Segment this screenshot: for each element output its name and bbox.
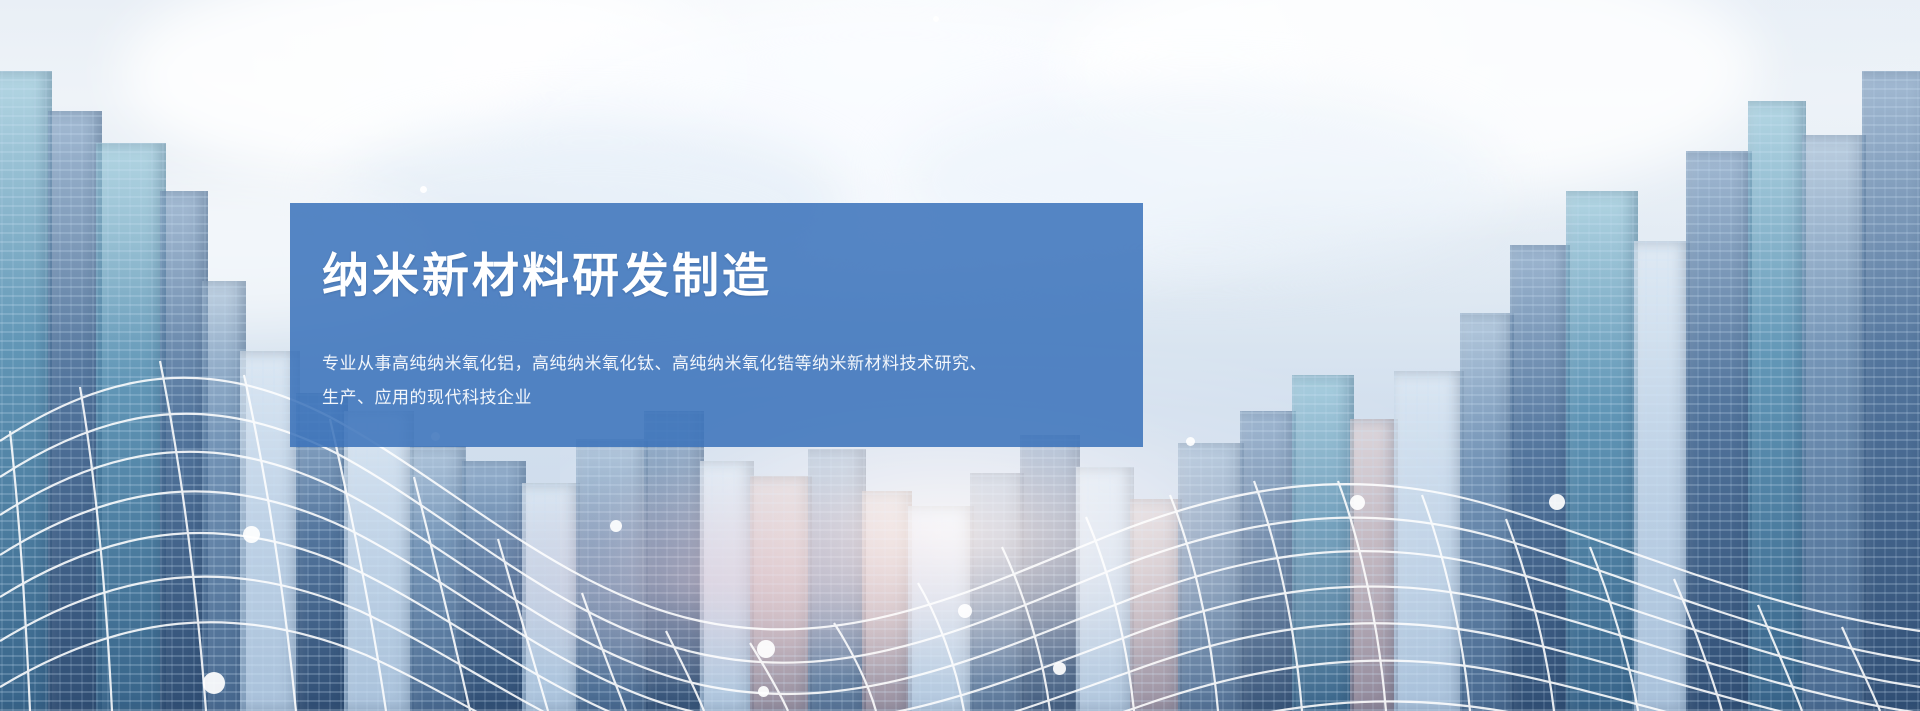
- page-title: 纳米新材料研发制造: [322, 251, 1143, 303]
- building: [1510, 245, 1570, 711]
- building: [1566, 191, 1638, 711]
- building: [1240, 411, 1296, 711]
- building: [1292, 375, 1354, 711]
- building: [462, 461, 526, 711]
- building: [970, 473, 1024, 711]
- building: [96, 143, 166, 711]
- building: [1460, 313, 1514, 711]
- hero-banner: 纳米新材料研发制造 专业从事高纯纳米氧化铝，高纯纳米氧化钛、高纯纳米氧化锆等纳米…: [0, 0, 1920, 711]
- building: [1802, 135, 1866, 711]
- building: [0, 71, 52, 711]
- building: [1130, 499, 1182, 711]
- building: [344, 411, 414, 711]
- building: [576, 439, 648, 711]
- building: [160, 191, 208, 711]
- building: [410, 446, 466, 711]
- building: [48, 111, 102, 711]
- building: [522, 483, 580, 711]
- building: [1394, 371, 1464, 711]
- building: [1178, 443, 1244, 711]
- building: [644, 411, 704, 711]
- building: [750, 476, 812, 711]
- building: [1350, 419, 1398, 711]
- hero-subtitle-line-2: 生产、应用的现代科技企业: [322, 381, 1122, 415]
- building: [908, 506, 974, 711]
- hero-subtitle: 专业从事高纯纳米氧化铝，高纯纳米氧化钛、高纯纳米氧化锆等纳米新材料技术研究、 生…: [322, 347, 1122, 415]
- building: [1634, 241, 1690, 711]
- building: [1862, 71, 1920, 711]
- building: [808, 449, 866, 711]
- building: [862, 491, 912, 711]
- building: [1020, 435, 1080, 711]
- building: [1748, 101, 1806, 711]
- building: [1686, 151, 1752, 711]
- hero-text-panel: 纳米新材料研发制造 专业从事高纯纳米氧化铝，高纯纳米氧化钛、高纯纳米氧化锆等纳米…: [290, 203, 1143, 447]
- hero-subtitle-line-1: 专业从事高纯纳米氧化铝，高纯纳米氧化钛、高纯纳米氧化锆等纳米新材料技术研究、: [322, 347, 1122, 381]
- building: [700, 461, 754, 711]
- building: [1076, 467, 1134, 711]
